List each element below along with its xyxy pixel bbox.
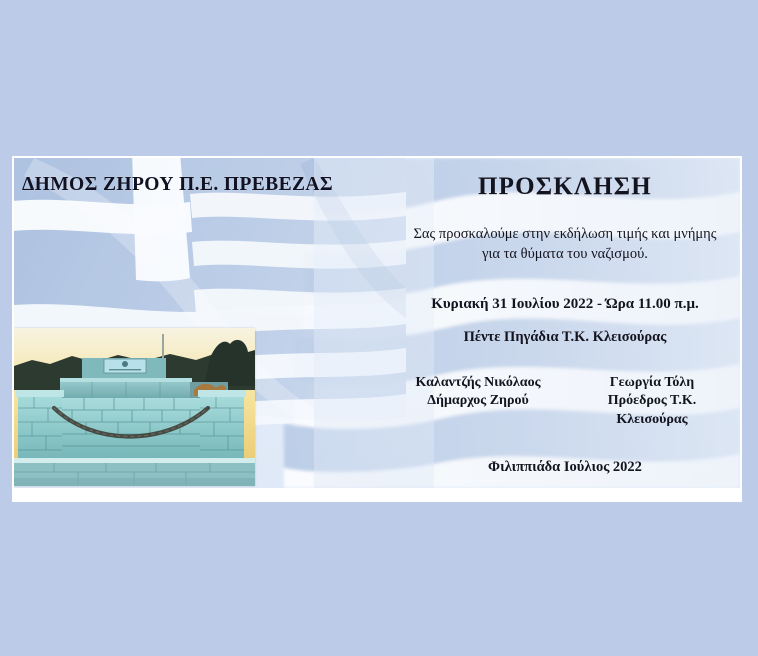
invitation-card: ΔΗΜΟΣ ΖΗΡΟΥ Π.Ε. ΠΡΕΒΕΖΑΣ (12, 156, 742, 502)
invitation-intro-line1: Σας προσκαλούμε στην εκδήλωση τιμής και … (413, 226, 716, 242)
event-datetime: Κυριακή 31 Ιουλίου 2022 - Ώρα 11.00 π.μ. (386, 296, 740, 313)
signatory-mayor-name: Καλαντζής Νικόλαος (399, 374, 557, 392)
signatory-mayor: Καλαντζής Νικόλαος Δήμαρχος Ζηρού (399, 374, 557, 429)
war-memorial-photo (14, 328, 255, 486)
invitation-intro: Σας προσκαλούμε στην εκδήλωση τιμής και … (386, 225, 740, 264)
signatory-president: Γεωργία Τόλη Πρόεδρος Τ.Κ. Κλεισούρας (573, 374, 731, 429)
card-inner: ΔΗΜΟΣ ΖΗΡΟΥ Π.Ε. ΠΡΕΒΕΖΑΣ (14, 158, 740, 488)
municipality-header: ΔΗΜΟΣ ΖΗΡΟΥ Π.Ε. ΠΡΕΒΕΖΑΣ (22, 174, 402, 196)
signatory-president-name: Γεωργία Τόλη (573, 374, 731, 392)
invitation-text-block: ΠΡΟΣΚΛΗΣΗ Σας προσκαλούμε στην εκδήλωση … (386, 158, 740, 488)
signatories: Καλαντζής Νικόλαος Δήμαρχος Ζηρού Γεωργί… (386, 374, 740, 429)
signatory-mayor-role: Δήμαρχος Ζηρού (399, 392, 557, 410)
signatory-president-role: Πρόεδρος Τ.Κ. Κλεισούρας (573, 392, 731, 428)
issue-place-date: Φιλιππιάδα Ιούλιος 2022 (386, 459, 740, 476)
invitation-intro-line2: για τα θύματα του ναζισμού. (482, 246, 648, 262)
event-location: Πέντε Πηγάδια Τ.Κ. Κλεισούρας (386, 329, 740, 346)
invitation-title: ΠΡΟΣΚΛΗΣΗ (386, 173, 740, 201)
